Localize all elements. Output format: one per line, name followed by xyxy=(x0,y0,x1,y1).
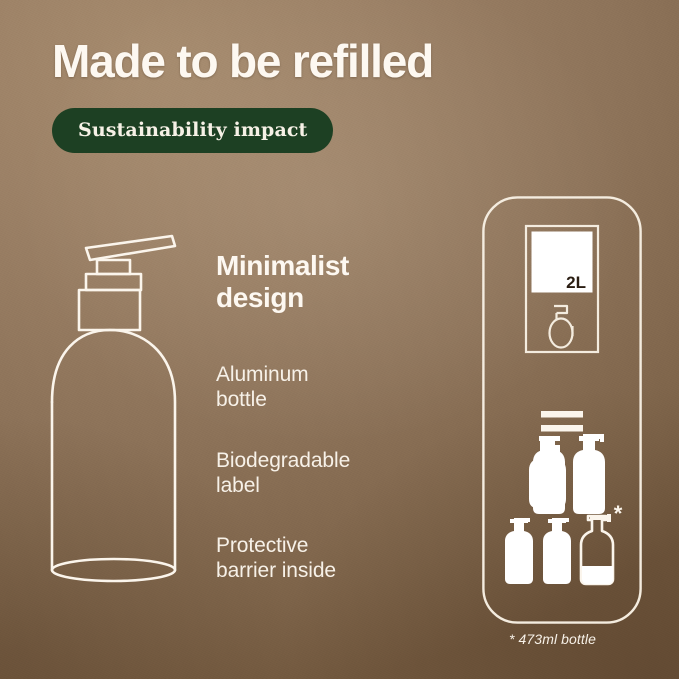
refill-equation-panel: 2L xyxy=(482,196,642,629)
result-row-small: * xyxy=(505,501,623,584)
feature-item-biodegradable-label: Biodegradable label xyxy=(216,448,350,498)
refill-box: 2L xyxy=(526,226,598,352)
infographic-canvas: Made to be refilled Sustainability impac… xyxy=(0,0,679,679)
result-row-large xyxy=(529,434,605,514)
asterisk-marker: * xyxy=(614,501,623,526)
status-badge: Sustainability impact xyxy=(52,108,333,153)
status-badge-label: Sustainability impact xyxy=(78,119,307,141)
refill-volume-label: 2L xyxy=(566,273,586,292)
page-title: Made to be refilled xyxy=(52,38,433,85)
equals-operator xyxy=(541,411,583,432)
feature-item-protective-barrier: Protective barrier inside xyxy=(216,533,336,583)
footnote-text: * 473ml bottle xyxy=(509,631,596,647)
partial-bottle-473ml xyxy=(581,514,613,584)
feature-item-aluminum-bottle: Aluminum bottle xyxy=(216,362,309,412)
feature-heading: Minimalist design xyxy=(216,250,349,315)
aluminum-pump-bottle-outline-icon xyxy=(44,222,212,599)
